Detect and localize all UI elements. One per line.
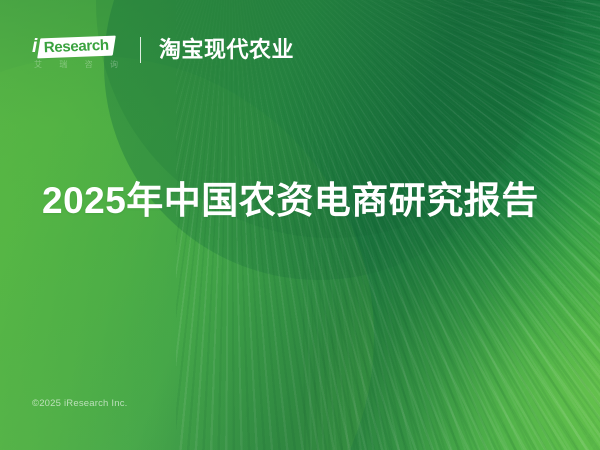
iresearch-sub-char-0: 艾 (34, 61, 42, 69)
iresearch-logo: i Research 艾 瑞 咨 询 (32, 36, 124, 69)
iresearch-wordmark: i Research (32, 36, 114, 58)
iresearch-logo-letter: i (32, 37, 37, 56)
page-title: 2025年中国农资电商研究报告 (42, 178, 539, 223)
brand-divider (140, 37, 141, 63)
report-cover: i Research 艾 瑞 咨 询 淘宝现代农业 2025年中国农资电商研究报… (0, 0, 600, 450)
partner-brand-name: 淘宝现代农业 (159, 39, 294, 61)
iresearch-banner-shape: Research (37, 36, 116, 59)
brand-bar: i Research 艾 瑞 咨 询 淘宝现代农业 (32, 36, 294, 69)
iresearch-sub-char-1: 瑞 (59, 61, 67, 69)
iresearch-sub-char-2: 咨 (85, 61, 93, 69)
iresearch-banner-text: Research (43, 38, 108, 55)
iresearch-sub-characters: 艾 瑞 咨 询 (32, 61, 118, 69)
copyright-notice: ©2025 iResearch Inc. (32, 399, 128, 409)
iresearch-sub-char-3: 询 (110, 61, 118, 69)
decor-radial-fan-lines-secondary (300, 0, 600, 450)
